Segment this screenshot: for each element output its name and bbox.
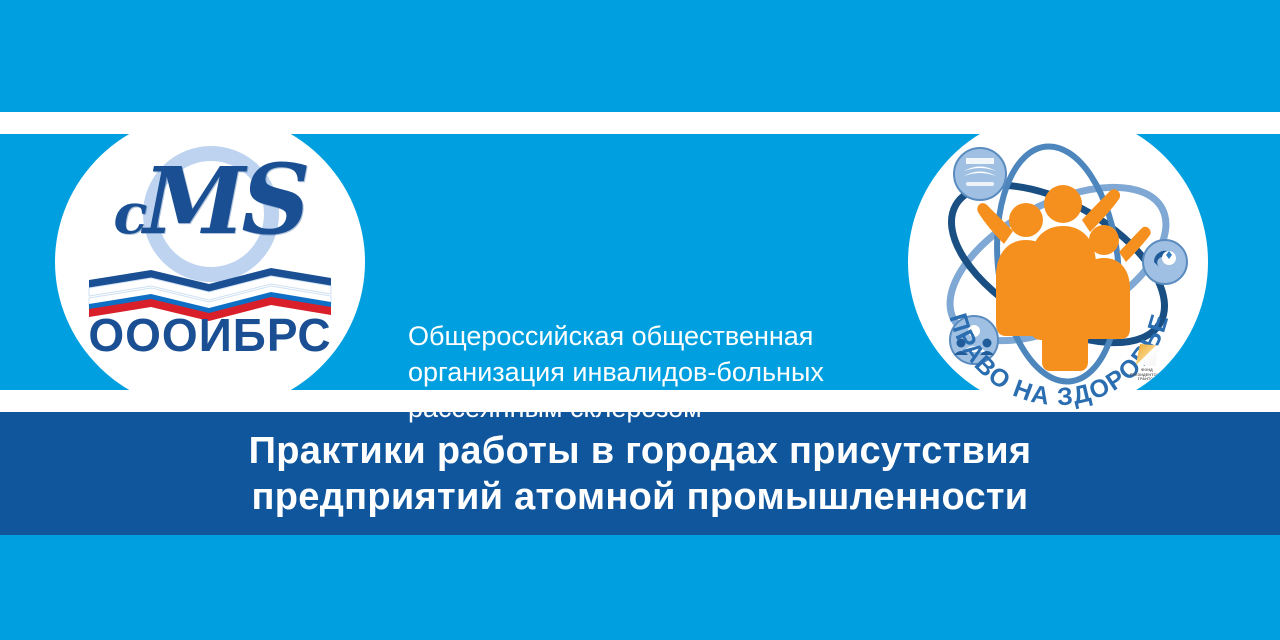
right-to-health-logo: ПРАВО НА ЗДОРОВЬЕ ФОНД ПРЕЗИДЕНТСКИХ ГРА… [908, 112, 1208, 412]
organization-name-line-3: рассеянным склерозом [408, 390, 898, 426]
grants-fund-line-3: ГРАНТОВ [1120, 377, 1174, 382]
organization-name-line-1: Общероссийская общественная [408, 318, 898, 354]
banner-title-line-1: Практики работы в городах присутствия [249, 428, 1032, 474]
promo-banner: cMS ОООИБРС Общероссийская общес [0, 0, 1280, 640]
ooooibrs-abbreviation: ОООИБРС [55, 308, 365, 362]
organization-name-line-2: организация инвалидов-больных [408, 354, 898, 390]
monogram-letter-c: c [113, 181, 143, 247]
banner-title: Практики работы в городах присутствия пр… [249, 428, 1032, 520]
banner-title-line-2: предприятий атомной промышленности [249, 474, 1032, 520]
monogram-letter-s: S [241, 143, 306, 256]
title-banner: Практики работы в городах присутствия пр… [0, 412, 1280, 535]
book-badge-icon [954, 148, 1006, 200]
top-cyan-field [0, 0, 1280, 112]
header-white-card: cMS ОООИБРС Общероссийская общес [0, 112, 1280, 412]
monogram-letter-m: M [143, 147, 241, 255]
handshake-badge-icon [1143, 240, 1187, 284]
organization-name: Общероссийская общественная организация … [408, 318, 898, 426]
ms-monogram-letters: cMS [85, 152, 335, 248]
presidential-grants-fund-icon: ФОНД ПРЕЗИДЕНТСКИХ ГРАНТОВ [1120, 344, 1174, 388]
grants-fund-mark [1136, 344, 1158, 366]
ms-monogram: cMS [85, 138, 335, 328]
bottom-cyan-field [0, 535, 1280, 640]
ooooibrs-logo: cMS ОООИБРС [55, 112, 365, 412]
